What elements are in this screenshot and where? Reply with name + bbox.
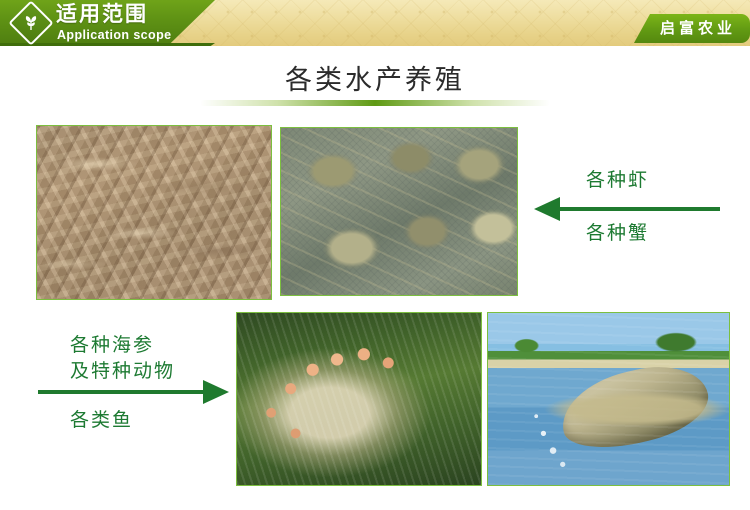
title-underline-rule: [200, 100, 550, 106]
arrow-right-shaft: [38, 390, 204, 394]
arrow-right-icon: [203, 380, 229, 404]
callout-crab-kinds: 各种蟹: [586, 221, 649, 247]
photo-shrimp-image: [37, 126, 271, 299]
callout-cucumber-kinds: 各种海参 及特种动物: [70, 333, 175, 385]
photo-sea-cucumber: [236, 312, 482, 486]
header-title-cn: 适用范围: [56, 2, 148, 28]
fish-silhouette: [554, 356, 716, 460]
brand-badge-label: 启富农业: [660, 14, 736, 43]
photo-crab: [280, 127, 518, 296]
brand-badge: 启富农业: [634, 14, 750, 43]
header-title-en: Application scope: [57, 28, 171, 42]
arrow-left-icon: [534, 197, 560, 221]
callout-shrimp-kinds: 各种虾: [586, 168, 649, 194]
callout-fish-kinds: 各类鱼: [70, 408, 133, 434]
photo-fish-image: [488, 313, 729, 485]
photo-shrimp: [36, 125, 272, 300]
page-header: 适用范围 Application scope 启富农业: [0, 0, 750, 46]
arrow-left-shaft: [556, 207, 720, 211]
photo-crab-image: [281, 128, 517, 295]
photo-fish: [487, 312, 730, 486]
photo-sea-cucumber-image: [237, 313, 481, 485]
page-title: 各类水产养殖: [0, 63, 750, 97]
